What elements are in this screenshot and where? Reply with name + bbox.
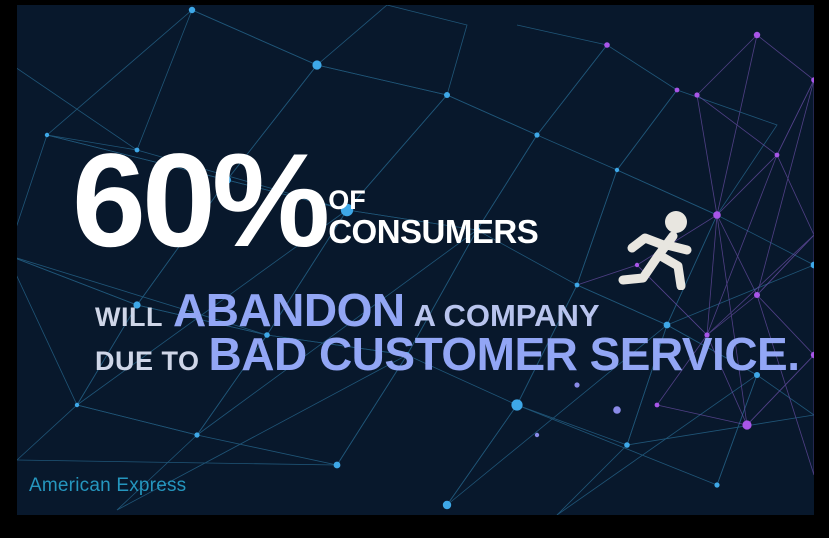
source-attribution: American Express: [29, 475, 186, 497]
bad-customer-service-label: BAD CUSTOMER SERVICE.: [209, 327, 800, 381]
running-person-icon: [618, 208, 696, 290]
percent-figure: 60%: [72, 147, 326, 256]
headline-block: 60% OF CONSUMERS WILL ABA: [17, 5, 814, 515]
due-to-label: DUE TO: [95, 346, 200, 377]
consumers-label: CONSUMERS: [328, 214, 538, 250]
of-consumers-group: OF CONSUMERS: [328, 187, 538, 256]
headline-line-three: DUE TO BAD CUSTOMER SERVICE.: [95, 327, 809, 381]
infographic-canvas: 60% OF CONSUMERS WILL ABA: [17, 5, 814, 515]
infographic-stage: 60% OF CONSUMERS WILL ABA: [0, 0, 829, 538]
headline-row-percent: 60% OF CONSUMERS: [72, 147, 538, 256]
of-label: OF: [328, 187, 366, 214]
